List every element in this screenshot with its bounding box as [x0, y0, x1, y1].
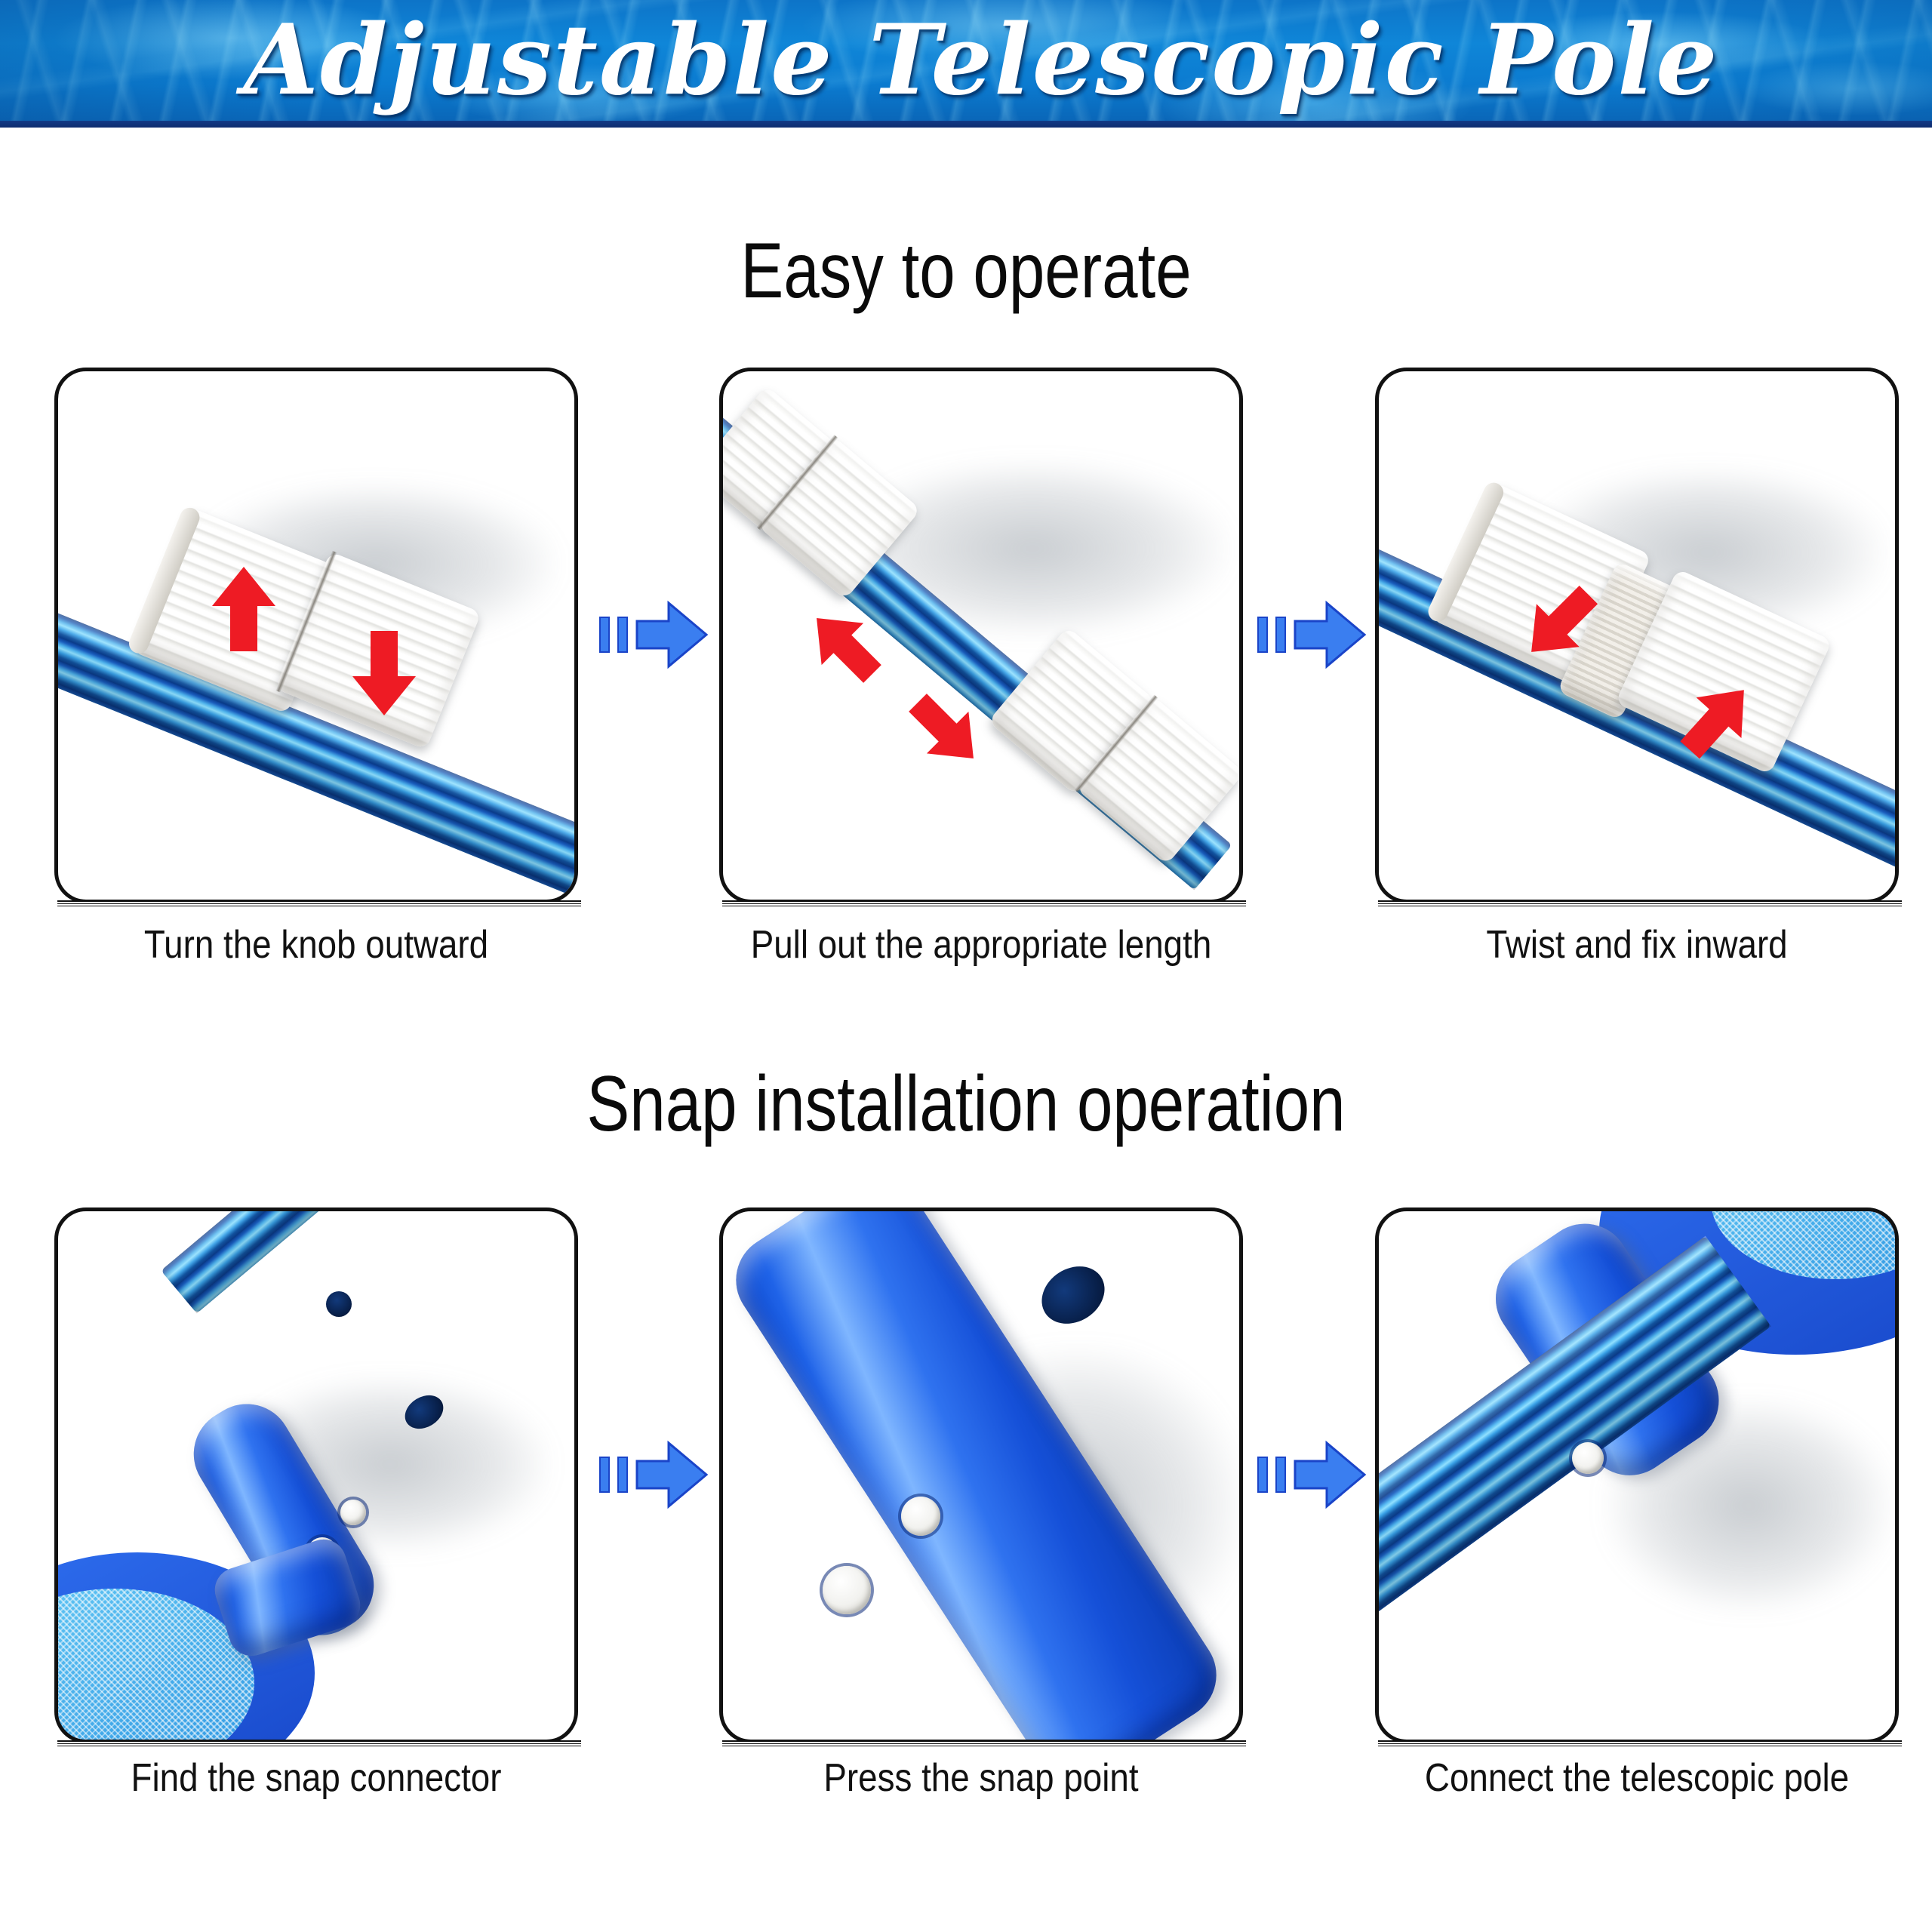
snap-button-engaged-lower	[1572, 1442, 1604, 1474]
step-caption-6: Connect the telescopic pole	[1385, 1755, 1890, 1801]
step-panel-twist-and-fix-inward[interactable]	[1375, 368, 1899, 903]
page-title: Adjustable Telescopic Pole	[0, 0, 1932, 121]
step-panel-pull-out-the-appropriate-length[interactable]	[719, 368, 1243, 903]
illustration-pole-collars-joined	[1379, 371, 1895, 900]
red-arrow-down-icon	[349, 628, 419, 718]
step-separator-arrow-1	[598, 598, 711, 671]
step-caption-3: Twist and fix inward	[1385, 922, 1890, 968]
illustration-pole-single-collar	[58, 371, 574, 900]
right-arrow-icon	[1294, 1438, 1366, 1511]
handle-hole	[1031, 1255, 1115, 1336]
red-arrow-up-icon	[209, 564, 278, 654]
net-neck	[209, 1534, 366, 1662]
pole-hole-upper	[326, 1291, 352, 1317]
step-panel-turn-the-knob-outward[interactable]	[54, 368, 578, 903]
step-caption-1: Turn the knob outward	[64, 922, 569, 968]
banner-underline	[0, 121, 1932, 128]
motion-bar	[599, 1457, 610, 1493]
panel-underline	[57, 900, 581, 908]
right-arrow-icon	[1294, 598, 1366, 671]
motion-bar	[617, 1457, 628, 1493]
panel-underline	[722, 900, 1246, 908]
step-caption-5: Press the snap point	[729, 1755, 1234, 1801]
step-separator-arrow-4	[1256, 1438, 1369, 1511]
net-handle-socket-closeup	[719, 1207, 1234, 1743]
step-caption-2: Pull out the appropriate length	[729, 922, 1234, 968]
step-panel-find-the-snap-connector[interactable]	[54, 1207, 578, 1743]
snap-button-upper	[340, 1500, 366, 1525]
panel-underline	[1378, 900, 1902, 908]
motion-bar	[1257, 1457, 1268, 1493]
illustration-pole-extended	[723, 371, 1239, 900]
panel-underline	[57, 1740, 581, 1748]
handle-hole	[399, 1389, 450, 1435]
step-caption-4: Find the snap connector	[64, 1755, 569, 1801]
motion-bar	[1275, 1457, 1286, 1493]
collar-cap	[126, 505, 202, 657]
snap-button-lower	[823, 1566, 871, 1614]
step-separator-arrow-2	[1256, 598, 1369, 671]
illustration-handle-closeup	[723, 1211, 1239, 1740]
motion-bar	[617, 617, 628, 653]
motion-bar	[599, 617, 610, 653]
illustration-pole-connected-to-handle	[1379, 1211, 1895, 1740]
collar-cap	[1425, 479, 1506, 624]
right-arrow-icon	[635, 598, 708, 671]
motion-bar	[1257, 617, 1268, 653]
panel-underline	[1378, 1740, 1902, 1748]
motion-bar	[1275, 617, 1286, 653]
illustration-pole-and-net-handle	[58, 1211, 574, 1740]
panel-underline	[722, 1740, 1246, 1748]
step-panel-press-the-snap-point[interactable]	[719, 1207, 1243, 1743]
step-panel-connect-the-telescopic-pole[interactable]	[1375, 1207, 1899, 1743]
section-heading-easy-to-operate: Easy to operate	[174, 226, 1758, 316]
step-separator-arrow-3	[598, 1438, 711, 1511]
section-heading-snap-installation-operation: Snap installation operation	[174, 1060, 1758, 1149]
right-arrow-icon	[635, 1438, 708, 1511]
snap-button-upper	[901, 1497, 940, 1536]
